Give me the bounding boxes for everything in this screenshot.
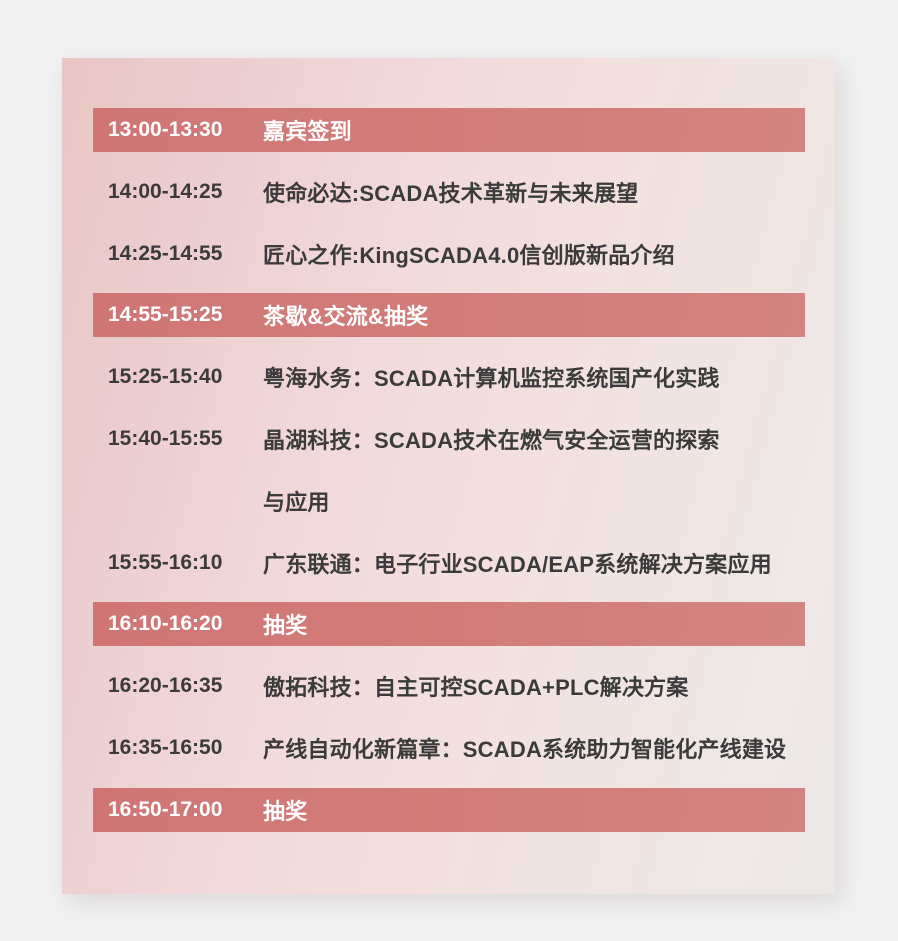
agenda-row-time: 16:35-16:50 [93, 736, 263, 760]
agenda-row: 14:00-14:25使命必达:SCADA技术革新与未来展望 [93, 170, 805, 214]
agenda-row-title: 产线自动化新篇章：SCADA系统助力智能化产线建设 [263, 732, 786, 764]
agenda-row: 14:55-15:25茶歇&交流&抽奖 [93, 293, 805, 337]
agenda-row: 15:40-15:55晶湖科技：SCADA技术在燃气安全运营的探索 [93, 417, 805, 461]
agenda-row: 16:10-16:20抽奖 [93, 602, 805, 646]
agenda-row-time: 16:50-17:00 [93, 798, 263, 822]
agenda-row-time: 14:55-15:25 [93, 303, 263, 327]
agenda-row-title: 晶湖科技：SCADA技术在燃气安全运营的探索 [263, 423, 720, 455]
agenda-row-time: 15:55-16:10 [93, 551, 263, 575]
agenda-row: 与应用 [93, 479, 805, 523]
agenda-row-title: 傲拓科技：自主可控SCADA+PLC解决方案 [263, 670, 688, 702]
agenda-row-list: 13:00-13:30嘉宾签到14:00-14:25使命必达:SCADA技术革新… [62, 58, 835, 894]
agenda-row-time: 16:20-16:35 [93, 674, 263, 698]
agenda-row: 15:55-16:10广东联通：电子行业SCADA/EAP系统解决方案应用 [93, 541, 805, 585]
agenda-row: 14:25-14:55匠心之作:KingSCADA4.0信创版新品介绍 [93, 232, 805, 276]
agenda-row-title: 茶歇&交流&抽奖 [263, 299, 428, 331]
agenda-row: 15:25-15:40粤海水务：SCADA计算机监控系统国产化实践 [93, 355, 805, 399]
agenda-row: 16:20-16:35傲拓科技：自主可控SCADA+PLC解决方案 [93, 664, 805, 708]
agenda-row-title: 粤海水务：SCADA计算机监控系统国产化实践 [263, 361, 720, 393]
agenda-row-title: 抽奖 [263, 608, 307, 640]
agenda-row-time: 14:00-14:25 [93, 180, 263, 204]
agenda-row-time: 14:25-14:55 [93, 242, 263, 266]
agenda-row-time: 15:25-15:40 [93, 365, 263, 389]
agenda-row-time: 16:10-16:20 [93, 612, 263, 636]
agenda-card: 13:00-13:30嘉宾签到14:00-14:25使命必达:SCADA技术革新… [62, 58, 835, 894]
agenda-row-title: 匠心之作:KingSCADA4.0信创版新品介绍 [263, 238, 675, 270]
agenda-row-title: 广东联通：电子行业SCADA/EAP系统解决方案应用 [263, 547, 772, 579]
agenda-row-title: 与应用 [263, 485, 330, 517]
agenda-row-time: 15:40-15:55 [93, 427, 263, 451]
agenda-row-time: 13:00-13:30 [93, 118, 263, 142]
agenda-row-title: 使命必达:SCADA技术革新与未来展望 [263, 176, 638, 208]
agenda-row: 16:50-17:00抽奖 [93, 788, 805, 832]
agenda-row: 16:35-16:50产线自动化新篇章：SCADA系统助力智能化产线建设 [93, 726, 805, 770]
agenda-row-title: 抽奖 [263, 794, 307, 826]
agenda-row: 13:00-13:30嘉宾签到 [93, 108, 805, 152]
agenda-row-title: 嘉宾签到 [263, 114, 352, 146]
